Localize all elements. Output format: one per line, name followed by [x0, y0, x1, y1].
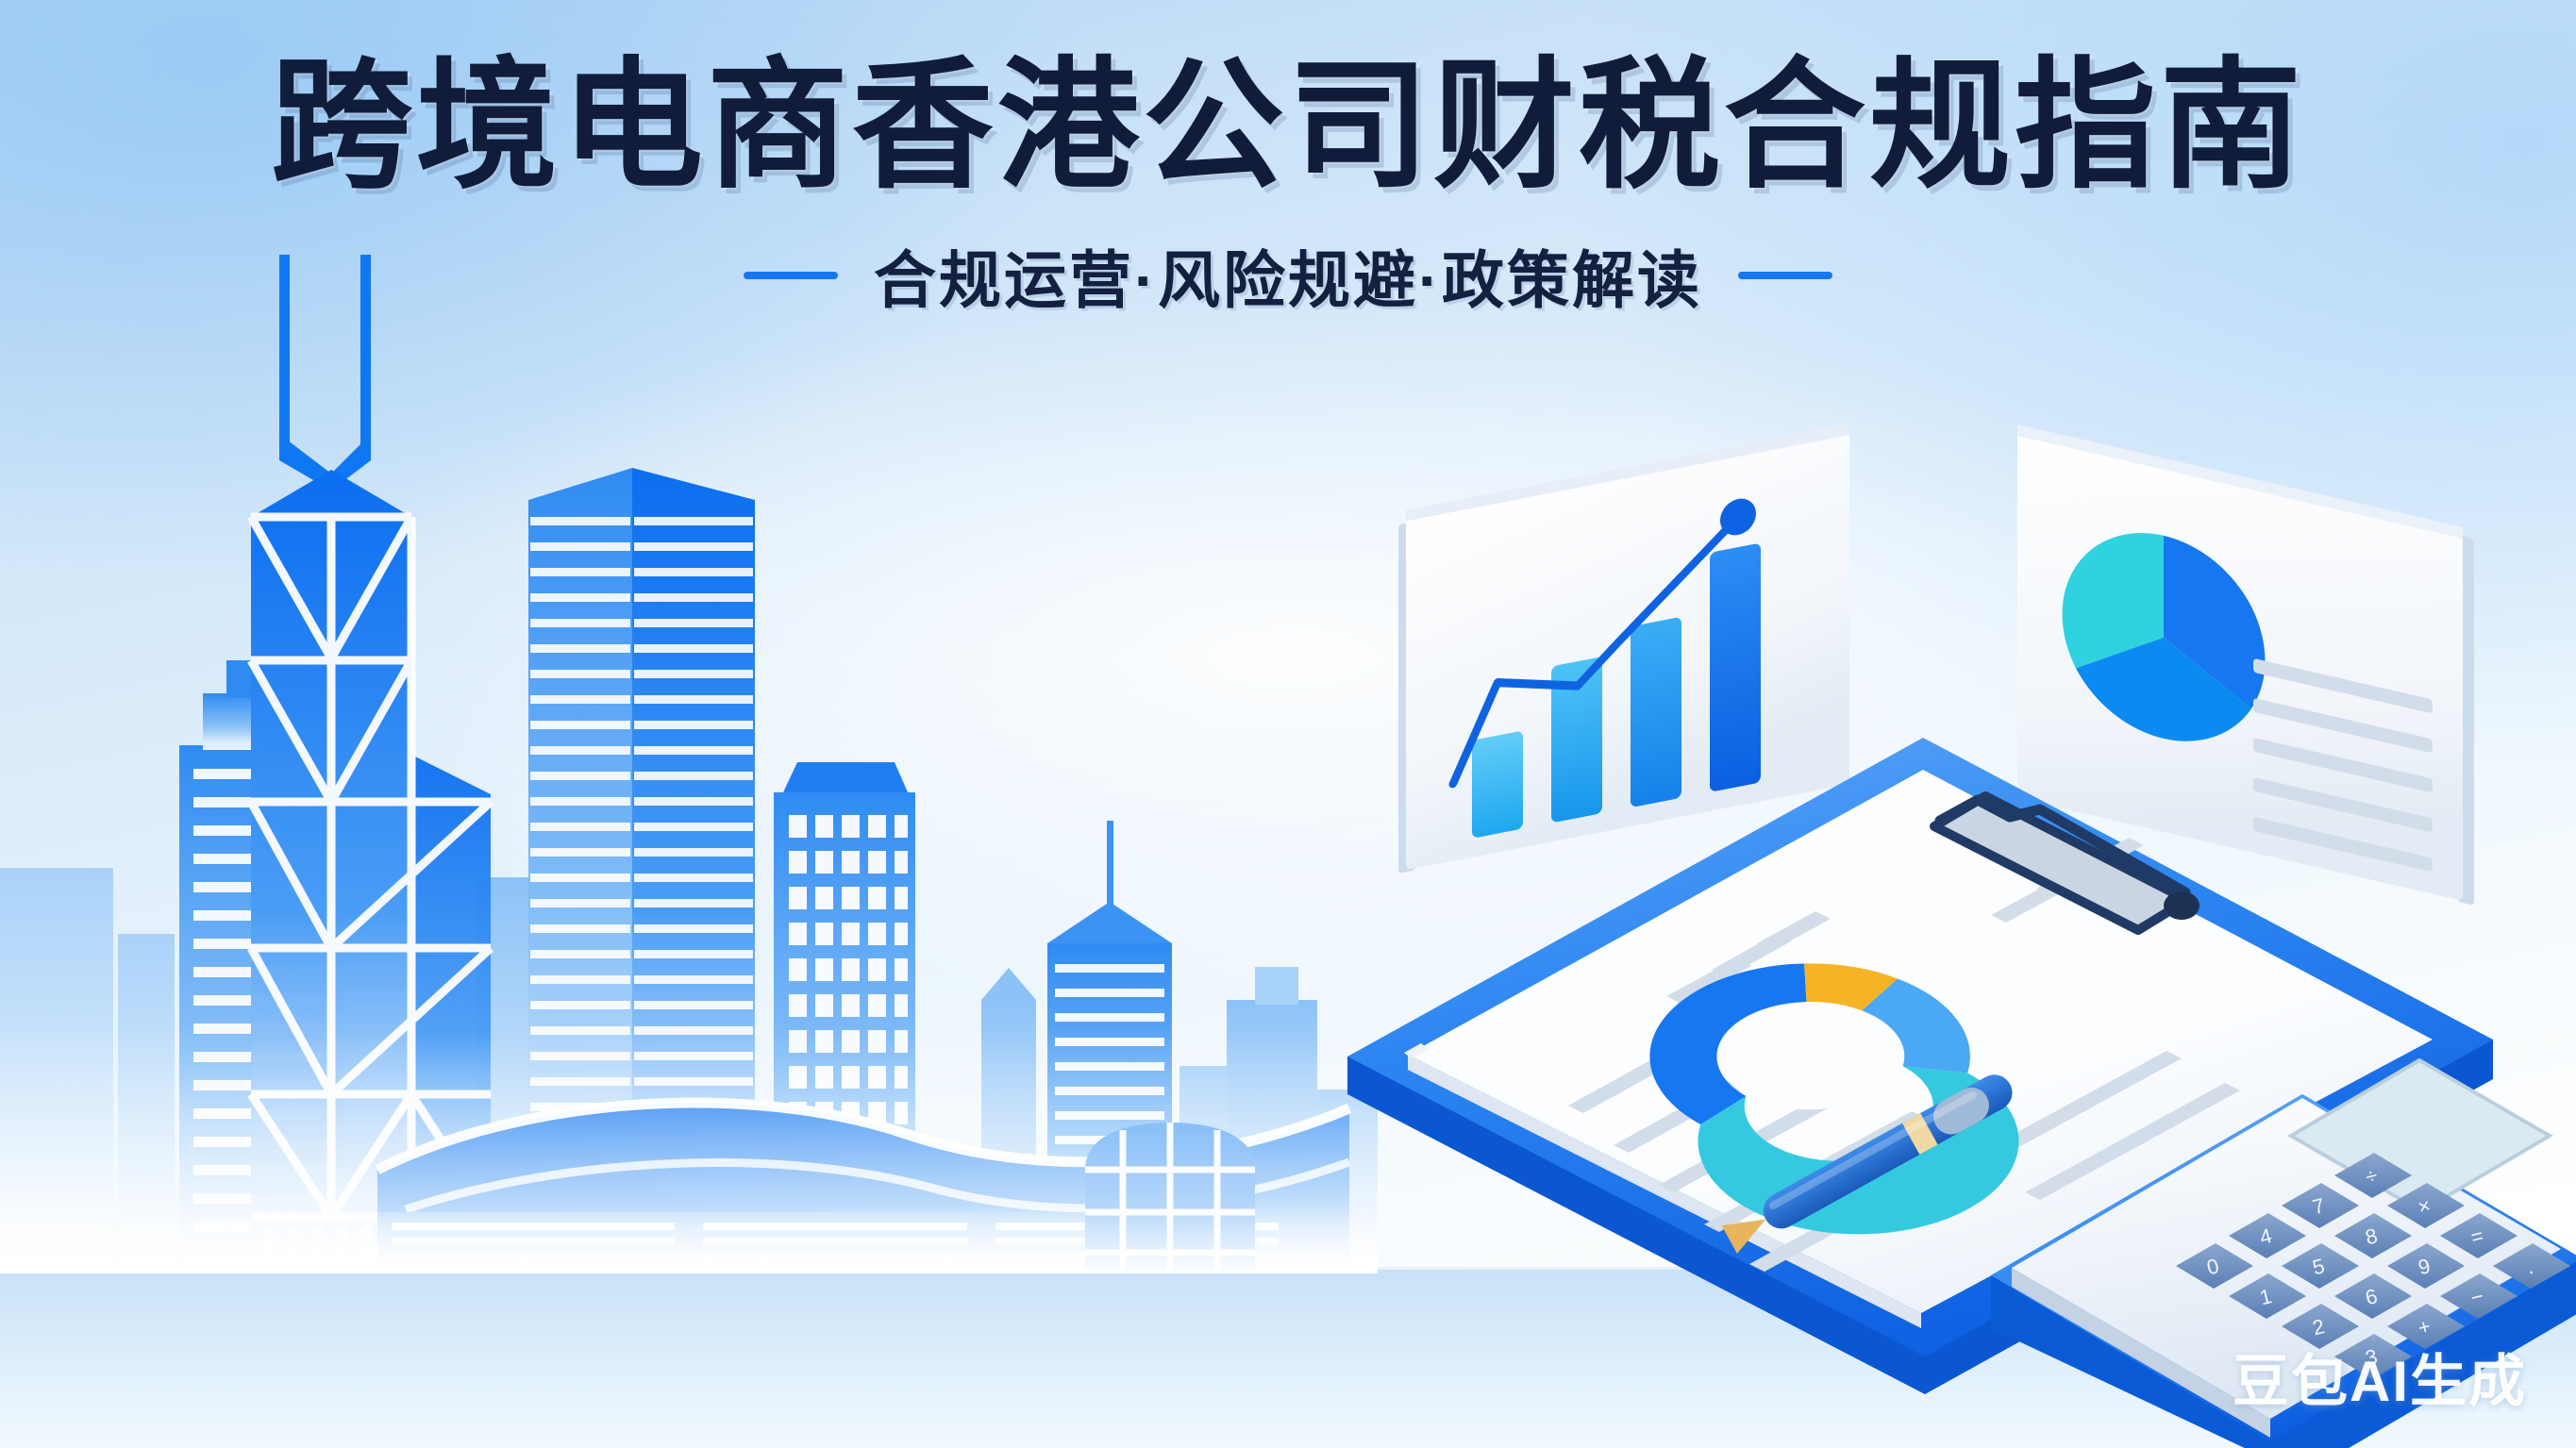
watermark: 豆包AI生成: [2233, 1336, 2527, 1418]
hong-kong-skyline: [0, 217, 1378, 1273]
page-title: 跨境电商香港公司财税合规指南: [0, 49, 2576, 202]
bar-3: [1631, 617, 1681, 807]
subtitle-dash-right: [1738, 272, 1832, 279]
subtitle-row: 合规运营·风险规避·政策解读: [0, 230, 2576, 321]
subtitle-dash-left: [744, 272, 838, 279]
page-subtitle: 合规运营·风险规避·政策解读: [874, 230, 1702, 321]
poster-root: 0 1 2 3 4 5 6 + 7 8 9 − ÷ × = .: [0, 0, 2576, 1448]
title-block: 跨境电商香港公司财税合规指南 合规运营·风险规避·政策解读: [0, 49, 2576, 321]
finance-illustration: 0 1 2 3 4 5 6 + 7 8 9 − ÷ × = .: [1330, 406, 2576, 1406]
bar-1: [1472, 730, 1523, 838]
bar-chart-card: [1398, 424, 1849, 874]
bar-4: [1710, 542, 1761, 791]
